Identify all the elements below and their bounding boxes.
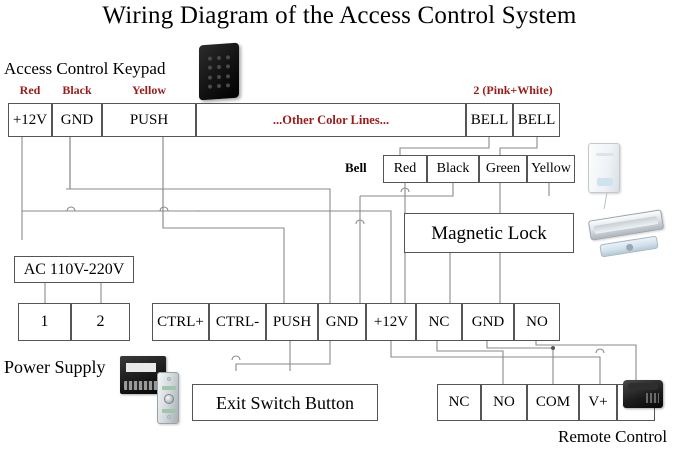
- controller-terminal-push[interactable]: PUSH: [266, 303, 318, 341]
- power-supply-label: Power Supply: [4, 358, 106, 376]
- wire-gnd-exit: [236, 341, 330, 371]
- wire-gnd2-remote-com: [487, 341, 553, 384]
- remote-control-icon: [623, 380, 663, 408]
- wire-keypad-12v-b: [200, 211, 391, 303]
- power-terminal-1[interactable]: 1: [18, 303, 71, 341]
- keypad-terminal-push[interactable]: PUSH: [102, 103, 196, 137]
- wire-keypad-gnd: [70, 189, 330, 303]
- wire-keypad-gnd-stub: [66, 137, 70, 189]
- controller-terminal-gnd-1[interactable]: GND: [318, 303, 366, 341]
- remote-terminal-vplus[interactable]: V+: [579, 384, 617, 421]
- controller-terminal-ctrl-minus[interactable]: CTRL-: [209, 303, 266, 341]
- remote-terminal-com[interactable]: COM: [527, 384, 579, 421]
- keypad-terminal-12v[interactable]: +12V: [8, 103, 52, 137]
- wire-label-yellow: Yellow: [102, 84, 196, 96]
- lock-terminal-green[interactable]: Green: [479, 155, 527, 183]
- keypad-keys: [206, 53, 232, 91]
- keypad-terminal-bell-2[interactable]: BELL: [513, 103, 560, 137]
- keypad-label: Access Control Keypad: [4, 60, 165, 77]
- exit-switch-knob-icon: [164, 394, 174, 404]
- bell-side-label: Bell: [345, 161, 367, 174]
- wiring-diagram: Wiring Diagram of the Access Control Sys…: [0, 0, 679, 451]
- access-control-keypad-icon: [199, 43, 239, 101]
- lock-terminal-red[interactable]: Red: [383, 155, 427, 183]
- exit-switch-tag-bottom-icon: [162, 409, 176, 413]
- wire-hop-5: [232, 356, 240, 360]
- page-title: Wiring Diagram of the Access Control Sys…: [0, 2, 679, 30]
- wire-keypad-12v-a: [22, 137, 196, 211]
- wire-bell-2: [500, 137, 537, 157]
- wire-hop-1: [67, 207, 75, 211]
- wire-hop-2: [160, 207, 168, 211]
- door-bell-icon: [588, 143, 620, 193]
- controller-terminal-nc[interactable]: NC: [416, 303, 462, 341]
- magnetic-lock-box: Magnetic Lock: [404, 213, 574, 253]
- keypad-other-color-lines: ...Other Color Lines...: [196, 103, 466, 137]
- remote-terminal-nc[interactable]: NC: [437, 384, 481, 421]
- controller-terminal-no[interactable]: NO: [514, 303, 560, 341]
- controller-terminal-ctrl-plus[interactable]: CTRL+: [152, 303, 209, 341]
- ac-input-box: AC 110V-220V: [14, 256, 134, 283]
- wire-label-pink-white: 2 (Pink+White): [466, 84, 560, 96]
- exit-switch-screw-bottom-icon: [167, 415, 171, 419]
- wire-lock-black-a: [360, 183, 453, 196]
- exit-switch-icon: [157, 372, 179, 424]
- lock-terminal-black[interactable]: Black: [427, 155, 479, 183]
- psu-label-icon: [126, 363, 156, 372]
- exit-switch-tag-top-icon: [162, 386, 176, 390]
- controller-terminal-12v[interactable]: +12V: [366, 303, 416, 341]
- keypad-terminal-gnd[interactable]: GND: [52, 103, 102, 137]
- wire-keypad-push: [163, 137, 284, 303]
- wire-junction-com: [551, 346, 555, 350]
- wire-label-red: Red: [8, 84, 52, 96]
- wire-bell-1: [400, 137, 489, 157]
- wire-label-black: Black: [52, 84, 102, 96]
- exit-switch-button-box: Exit Switch Button: [192, 384, 378, 421]
- wire-hop-6: [596, 349, 604, 353]
- remote-terminal-no[interactable]: NO: [481, 384, 527, 421]
- lock-terminal-yellow[interactable]: Yellow: [527, 155, 575, 183]
- remote-control-label: Remote Control: [558, 428, 667, 445]
- controller-terminal-gnd-2[interactable]: GND: [462, 303, 514, 341]
- exit-switch-screw-top-icon: [167, 377, 171, 381]
- keypad-terminal-bell-1[interactable]: BELL: [466, 103, 513, 137]
- power-terminal-2[interactable]: 2: [71, 303, 130, 341]
